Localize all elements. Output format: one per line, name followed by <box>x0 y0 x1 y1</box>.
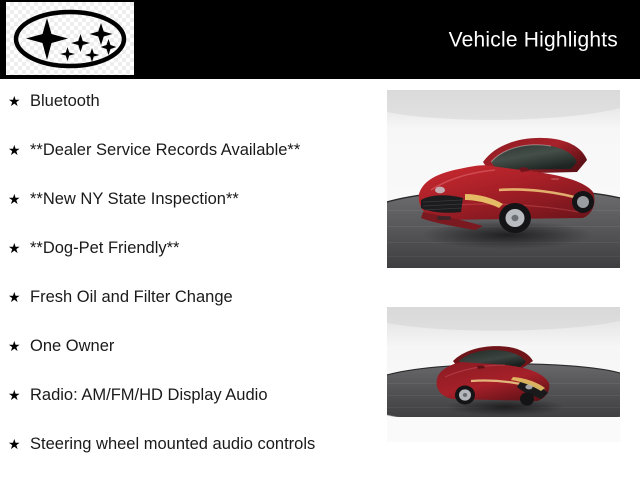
page-title: Vehicle Highlights <box>449 29 618 50</box>
star-bullet-icon: ★ <box>8 388 30 402</box>
list-item: ★ **Dog-Pet Friendly** <box>0 240 380 289</box>
star-bullet-icon: ★ <box>8 241 30 255</box>
list-item: ★ Bluetooth <box>0 93 380 142</box>
list-item-label: Steering wheel mounted audio controls <box>30 436 380 453</box>
star-bullet-icon: ★ <box>8 437 30 451</box>
dealer-logo <box>6 2 134 75</box>
list-item-label: Radio: AM/FM/HD Display Audio <box>30 387 380 404</box>
list-item-label: Bluetooth <box>30 93 380 110</box>
list-item-label: **New NY State Inspection** <box>30 191 380 208</box>
star-bullet-icon: ★ <box>8 339 30 353</box>
list-item-label: **Dog-Pet Friendly** <box>30 240 380 257</box>
list-item-label: **Dealer Service Records Available** <box>30 142 380 159</box>
star-bullet-icon: ★ <box>8 192 30 206</box>
list-item: ★ **Dealer Service Records Available** <box>0 142 380 191</box>
page-header: Vehicle Highlights <box>0 0 640 79</box>
star-bullet-icon: ★ <box>8 143 30 157</box>
list-item: ★ One Owner <box>0 338 380 387</box>
list-item-label: Fresh Oil and Filter Change <box>30 289 380 306</box>
list-item: ★ Steering wheel mounted audio controls <box>0 436 380 485</box>
vehicle-photo-front-right-wide <box>387 307 620 442</box>
vehicle-highlights-list: ★ Bluetooth ★ **Dealer Service Records A… <box>0 79 380 485</box>
star-bullet-icon: ★ <box>8 94 30 108</box>
star-bullet-icon: ★ <box>8 290 30 304</box>
list-item: ★ Radio: AM/FM/HD Display Audio <box>0 387 380 436</box>
list-item: ★ **New NY State Inspection** <box>0 191 380 240</box>
list-item-label: One Owner <box>30 338 380 355</box>
vehicle-photo-front-three-quarter <box>387 90 620 268</box>
subaru-star-oval-logo-icon <box>12 8 128 70</box>
list-item: ★ Fresh Oil and Filter Change <box>0 289 380 338</box>
content-area: ★ Bluetooth ★ **Dealer Service Records A… <box>0 79 640 480</box>
